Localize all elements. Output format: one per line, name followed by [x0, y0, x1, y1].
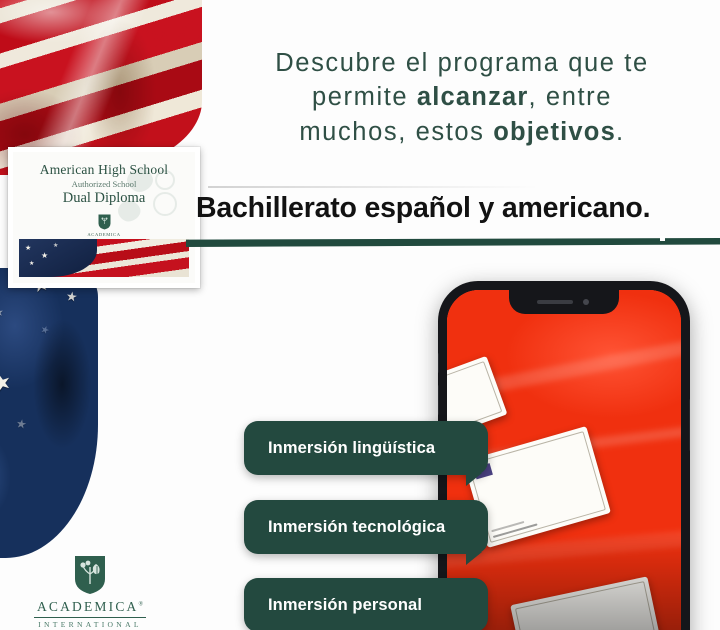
- academica-shield-icon: [98, 214, 111, 230]
- star-field-shading: [0, 268, 98, 558]
- diploma-line-1: American High School: [13, 162, 195, 178]
- headline-line-2: permite alcanzar, entre: [206, 80, 718, 114]
- headline-emphasis-alcanzar: alcanzar: [417, 83, 529, 111]
- registered-mark: ®: [139, 602, 144, 608]
- poster-canvas: ★ ★ ★ ★ ★ ★ Descubre el programa que te …: [0, 0, 720, 630]
- diploma-inner-border: [468, 431, 606, 543]
- benefit-bubble-label: Inmersión personal: [244, 596, 422, 615]
- flag-star-icon: ★: [15, 417, 28, 431]
- flag-star-icon: ★: [65, 289, 78, 303]
- earpiece-speaker-icon: [537, 300, 573, 304]
- flag-star-icon: ★: [41, 252, 48, 260]
- headline-line-3: muchos, estos objetivos.: [206, 115, 718, 149]
- headline-line-1: Descubre el programa que te: [206, 46, 718, 80]
- phone-mute-switch: [438, 353, 439, 373]
- main-title-block: Bachillerato español y americano.: [186, 186, 720, 248]
- dual-diploma-card: American High School Authorized School D…: [8, 147, 200, 288]
- phone-volume-up-button: [438, 385, 439, 415]
- benefit-bubble-linguistica: Inmersión lingüística: [244, 421, 488, 475]
- academica-international-logo: ACADEMICA® INTERNATIONAL: [28, 554, 152, 629]
- benefit-bubble-label: Inmersión lingüística: [244, 439, 435, 458]
- logo-underline: [34, 617, 146, 618]
- green-divider-bar: [186, 238, 720, 247]
- benefit-bubble-tecnologica: Inmersión tecnológica: [244, 500, 488, 554]
- diploma-line-2: Authorized School: [13, 179, 195, 189]
- phone-notch: [509, 290, 619, 314]
- academica-shield-icon: [73, 554, 107, 596]
- diploma-flag-strip: ★ ★ ★ ★: [19, 239, 189, 277]
- title-hairline-divider: [208, 186, 538, 188]
- benefit-bubble-label: Inmersión tecnológica: [244, 518, 445, 537]
- headline-emphasis-objetivos: objetivos: [493, 118, 616, 146]
- flag-star-icon: ★: [29, 261, 34, 267]
- diploma-line-3: Dual Diploma: [13, 190, 195, 207]
- front-camera-icon: [583, 299, 589, 305]
- american-flag-stars-image: ★ ★ ★ ★ ★ ★: [0, 268, 98, 558]
- flag-star-icon: ★: [25, 245, 31, 252]
- phone-power-button: [689, 399, 690, 451]
- logo-brand-name: ACADEMICA®: [28, 599, 152, 615]
- benefit-bubble-personal: Inmersión personal: [244, 578, 488, 630]
- diploma-text-block: American High School Authorized School D…: [13, 162, 195, 246]
- main-title: Bachillerato español y americano.: [196, 192, 720, 225]
- logo-subtitle: INTERNATIONAL: [28, 620, 152, 629]
- headline-text: Descubre el programa que te permite alca…: [206, 46, 718, 149]
- green-bar-notch: [660, 236, 665, 241]
- flag-star-icon: ★: [53, 243, 58, 249]
